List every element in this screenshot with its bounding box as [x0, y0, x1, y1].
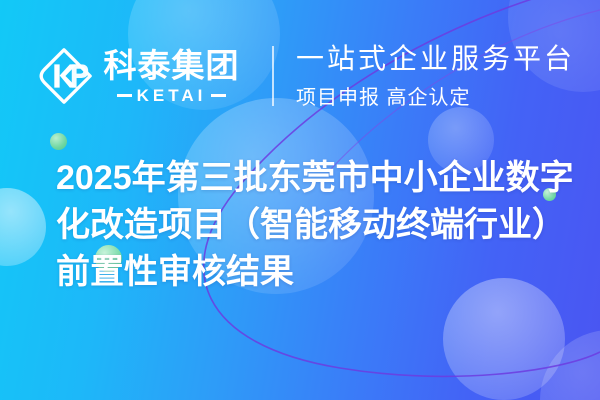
left-light-circle [0, 188, 46, 266]
brand-name-en: KETAI [137, 87, 207, 104]
brand-name-en-row: KETAI [117, 87, 227, 104]
ketai-kp-diamond-logo-icon [33, 45, 95, 107]
page-title-line-1: 2025年第三批东莞市中小企业数字 [56, 155, 568, 202]
banner-header: 科泰集团 KETAI 一站式企业服务平台 项目申报 高企认定 [0, 36, 600, 116]
header-divider [272, 46, 274, 106]
tagline-main: 一站式企业服务平台 [296, 42, 575, 75]
page-title-line-3: 前置性审核结果 [56, 249, 568, 296]
lower-right-circle [443, 278, 565, 400]
green-dot-upper-left [50, 133, 67, 150]
brand-logo-wordmark: 科泰集团 KETAI [104, 49, 240, 104]
tagline-block: 一站式企业服务平台 项目申报 高企认定 [296, 42, 575, 109]
page-title: 2025年第三批东莞市中小企业数字 化改造项目（智能移动终端行业） 前置性审核结… [56, 155, 568, 296]
page-title-line-2: 化改造项目（智能移动终端行业） [56, 202, 568, 249]
bottom-right-circle [540, 330, 600, 400]
tagline-sub: 项目申报 高企认定 [296, 81, 575, 110]
brand-logo[interactable]: 科泰集团 KETAI [0, 45, 272, 107]
logo-rule-right-icon [211, 94, 226, 97]
promo-banner: 科泰集团 KETAI 一站式企业服务平台 项目申报 高企认定 2025年第三批东… [0, 0, 600, 400]
brand-name-cn: 科泰集团 [104, 49, 240, 82]
logo-rule-left-icon [117, 94, 132, 97]
